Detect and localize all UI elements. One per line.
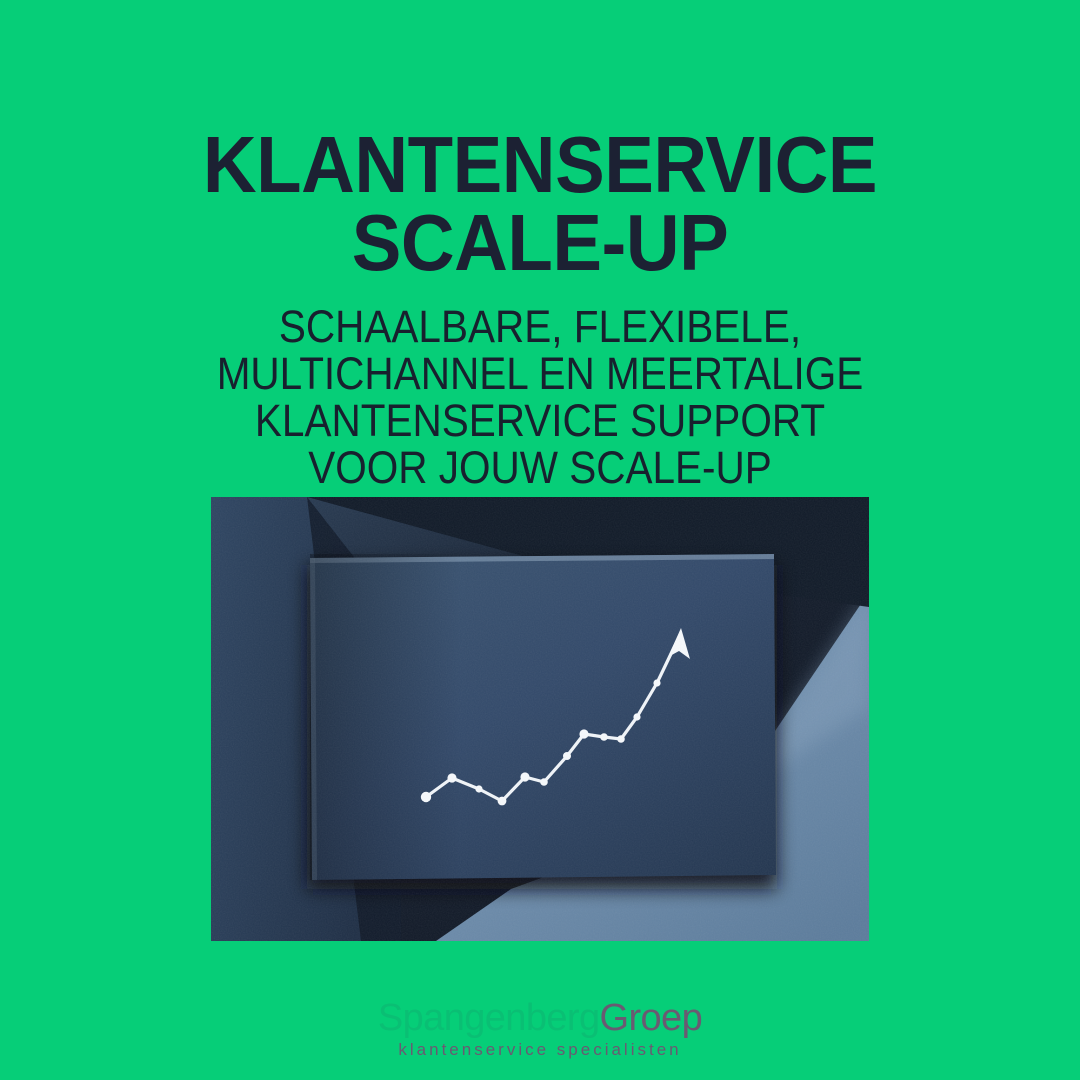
logo-word-groep: Groep (599, 997, 702, 1039)
logo-word-spangenberg: Spangenberg (378, 997, 600, 1039)
brand-logo: SpangenbergGroep klantenservice speciali… (0, 998, 1080, 1060)
logo-wordmark: SpangenbergGroep (0, 998, 1080, 1038)
poster-canvas: KLANTENSERVICE SCALE-UP SCHAALBARE, FLEX… (0, 0, 1080, 1080)
hero-photo (211, 497, 869, 941)
logo-tagline: klantenservice specialisten (0, 1040, 1080, 1060)
page-title: KLANTENSERVICE SCALE-UP (38, 126, 1042, 282)
subtitle-text: SCHAALBARE, FLEXIBELE, MULTICHANNEL EN M… (54, 303, 1026, 491)
hero-photo-graphic (211, 497, 869, 941)
paper-grain-overlay (211, 497, 869, 941)
